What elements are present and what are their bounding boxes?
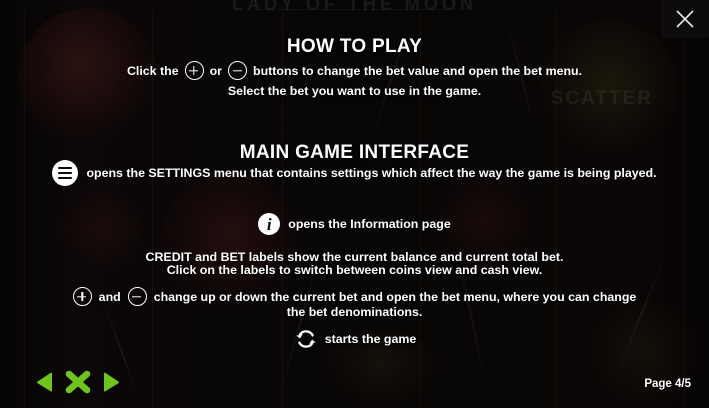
settings-menu-icon[interactable]: [52, 160, 78, 186]
previous-page-icon[interactable]: [30, 367, 60, 397]
spin-icon[interactable]: [293, 326, 319, 352]
close-help-icon[interactable]: [62, 367, 94, 397]
or-label: or: [210, 64, 222, 78]
close-icon: [674, 8, 696, 30]
next-page-icon[interactable]: [96, 367, 126, 397]
spin-row: starts the game: [0, 326, 709, 352]
minus-icon[interactable]: [228, 61, 247, 80]
help-overlay-screen: SCATTER LADY OF THE MOON HOW TO PLAY Cli…: [0, 0, 709, 408]
buttons-change-bet-label: buttons to change the bet value and open…: [253, 64, 582, 78]
and-label: and: [99, 290, 121, 304]
page-indicator: Page 4/5: [644, 378, 691, 390]
bet-change-label-line-2: the bet denominations.: [0, 304, 709, 320]
info-row: i opens the Information page: [0, 213, 709, 235]
bet-change-label-line-1: change up or down the current bet and op…: [154, 290, 637, 304]
info-icon[interactable]: i: [258, 213, 280, 235]
plus-icon[interactable]: [185, 61, 204, 80]
hamburger-bars: [58, 167, 72, 179]
section-heading-how-to-play: HOW TO PLAY: [0, 36, 709, 58]
settings-description-label: opens the SETTINGS menu that contains se…: [86, 166, 656, 180]
info-letter: i: [267, 216, 272, 233]
spin-description-label: starts the game: [325, 332, 417, 346]
credit-bet-line-2: Click on the labels to switch between co…: [0, 262, 709, 278]
how-to-play-line-1: Click the or buttons to change the bet v…: [0, 61, 709, 80]
click-the-label: Click the: [127, 64, 179, 78]
close-button[interactable]: [661, 0, 709, 38]
info-description-label: opens the Information page: [288, 217, 450, 231]
select-bet-label: Select the bet you want to use in the ga…: [0, 83, 709, 99]
footer-navigation: [30, 367, 126, 397]
help-content: HOW TO PLAY Click the or buttons to chan…: [0, 0, 709, 408]
settings-row: opens the SETTINGS menu that contains se…: [0, 160, 709, 186]
